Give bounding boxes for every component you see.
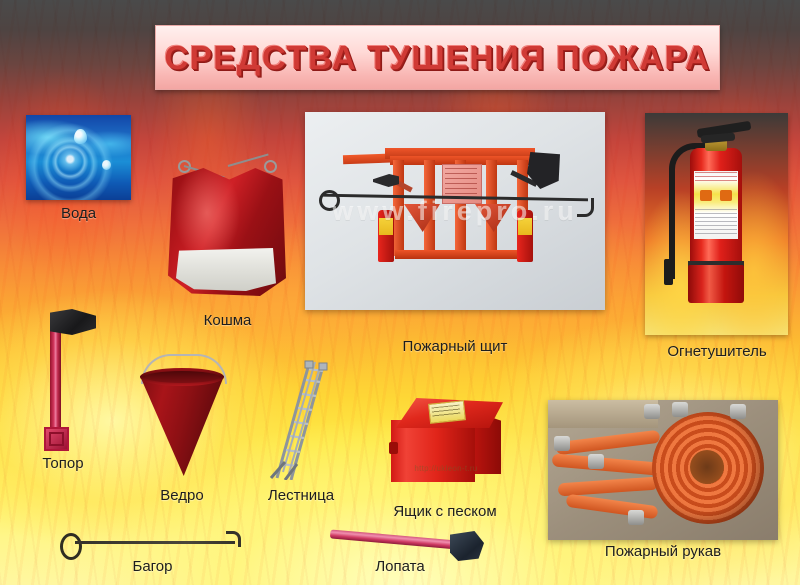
label-fire-blanket: Кошма [160, 312, 295, 329]
label-fire-hook: Багор [60, 558, 245, 575]
axe-head-icon [50, 309, 96, 335]
label-water: Вода [26, 205, 131, 222]
poster-title: СРЕДСТВА ТУШЕНИЯ ПОЖАРА [164, 39, 710, 77]
shield-photo-watermark: www.firepro.ru [311, 196, 599, 227]
hose-coupling-3-icon [644, 404, 660, 419]
fire-hook-tip-icon [226, 531, 241, 547]
bucket-rim-inner [145, 371, 219, 383]
shovel-handle [330, 529, 458, 549]
hose-wooden-crate [548, 400, 658, 428]
blanket-white-fabric [176, 248, 276, 291]
label-axe: Топор [8, 455, 118, 472]
sand-box-watermark: http://ukleon-t.ru [385, 464, 507, 473]
axe-image [28, 305, 100, 445]
sand-box-handle [389, 442, 398, 454]
axe-mount-bracket-inner [49, 432, 64, 446]
label-extinguisher: Огнетушитель [637, 343, 797, 360]
ladder-image [265, 360, 343, 480]
hose-coil-center [690, 450, 724, 484]
ladder-svg [265, 360, 343, 480]
axe-handle [50, 327, 61, 437]
fire-bucket-image [128, 352, 236, 480]
shovel-blade-icon [450, 531, 484, 561]
fire-safety-poster: СРЕДСТВА ТУШЕНИЯ ПОЖАРА Вода Кошма [0, 0, 800, 585]
hose-band-1 [556, 430, 661, 456]
sand-box-image: http://ukleon-t.ru [385, 390, 507, 490]
hose-coupling-5-icon [730, 404, 746, 419]
shield-frame-bottom [395, 250, 528, 259]
hose-coupling-6-icon [628, 510, 644, 525]
water-droplet-icon [74, 129, 87, 144]
fire-hook-rod [75, 541, 235, 544]
label-fire-shield: Пожарный щит [305, 338, 605, 355]
hose-band-4 [566, 494, 659, 520]
blanket-cord-right [228, 153, 269, 166]
fire-shield-image: www.firepro.ru [305, 112, 605, 310]
poster-title-banner: СРЕДСТВА ТУШЕНИЯ ПОЖАРА [155, 25, 720, 90]
label-fire-hose: Пожарный рукав [548, 543, 778, 560]
extinguisher-label-header-text [695, 172, 737, 184]
water-image [26, 115, 131, 200]
extinguisher-nozzle-icon [664, 259, 673, 285]
extinguisher-label-pictogram-1-icon [700, 190, 712, 201]
label-sand-box: Ящик с песком [370, 503, 520, 520]
fire-extinguisher-image [645, 113, 788, 335]
hose-band-2 [552, 453, 661, 475]
extinguisher-label-pictogram-2-icon [720, 190, 732, 201]
bucket-cone-body [140, 376, 224, 476]
water-droplet-small-icon [102, 160, 111, 170]
label-ladder: Лестница [236, 487, 366, 504]
fire-hook-image [60, 528, 245, 558]
fire-hose-image [548, 400, 778, 540]
extinguisher-base [688, 265, 744, 303]
shield-info-plate-text [445, 168, 477, 198]
blanket-hook-right-icon [264, 160, 277, 173]
shield-axe-head-icon [373, 174, 399, 187]
label-bucket: Ведро [128, 487, 236, 504]
hose-coupling-2-icon [588, 454, 604, 469]
fire-blanket-image [160, 152, 295, 307]
label-shovel: Лопата [330, 558, 470, 575]
extinguisher-label-body-text [695, 209, 737, 235]
fire-hook-ring-icon [60, 533, 82, 560]
hose-coupling-1-icon [554, 436, 570, 451]
hose-coupling-4-icon [672, 402, 688, 417]
